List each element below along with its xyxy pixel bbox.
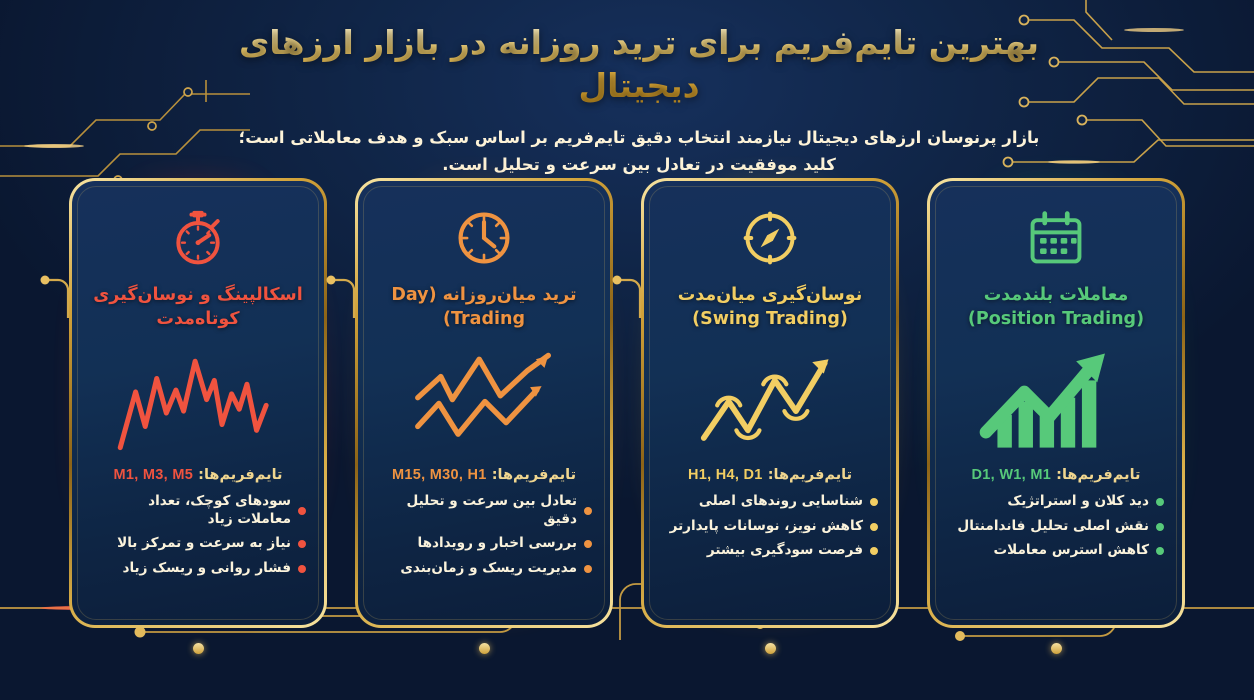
volatile-line-chart-icon [104, 341, 292, 463]
card-body: معاملات بلندمدت (Position Trading)تایم‌ف… [930, 181, 1182, 625]
calendar-icon [1026, 199, 1086, 277]
timeframes-label: تایم‌فریم‌ها: [492, 467, 576, 483]
list-item-label: فرصت سودگیری بیشتر [707, 542, 863, 560]
timeframes-label: تایم‌فریم‌ها: [1056, 467, 1140, 483]
bullet-dot-icon [1156, 498, 1164, 506]
card-title: معاملات بلندمدت (Position Trading) [942, 283, 1170, 335]
bullet-dot-icon [1156, 523, 1164, 531]
list-item-label: نقش اصلی تحلیل فاندامنتال [957, 518, 1149, 536]
list-item: نقش اصلی تحلیل فاندامنتال [948, 518, 1164, 536]
list-item-label: کاهش نویز، نوسانات پایدارتر [670, 518, 863, 536]
timeframes-row: تایم‌فریم‌ها: H1, H4, D1 [688, 467, 852, 483]
bullet-dot-icon [1156, 547, 1164, 555]
list-item: فرصت سودگیری بیشتر [662, 542, 878, 560]
bullet-dot-icon [584, 507, 592, 515]
bullet-dot-icon [298, 565, 306, 573]
feature-list: شناسایی روندهای اصلیکاهش نویز، نوسانات پ… [656, 493, 884, 567]
card-title: نوسان‌گیری میان‌مدت (Swing Trading) [656, 283, 884, 335]
list-item: دید کلان و استراتژیک [948, 493, 1164, 511]
card-title: ترید میان‌روزانه (Day Trading) [370, 283, 598, 335]
feature-list: دید کلان و استراتژیکنقش اصلی تحلیل فاندا… [942, 493, 1170, 567]
bullet-dot-icon [870, 498, 878, 506]
timeframes-value: M15, M30, H1 [392, 467, 487, 483]
list-item: کاهش استرس معاملات [948, 542, 1164, 560]
timeframes-row: تایم‌فریم‌ها: M1, M3, M5 [114, 467, 283, 483]
list-item: تعادل بین سرعت و تحلیل دقیق [376, 493, 592, 528]
timeframes-row: تایم‌فریم‌ها: M15, M30, H1 [392, 467, 576, 483]
list-item-label: مدیریت ریسک و زمان‌بندی [400, 560, 577, 578]
list-item: فشار روانی و ریسک زیاد [90, 560, 306, 578]
swing-wave-arrow-chart-icon [676, 341, 864, 463]
subtitle-line-1: بازار پرنوسان ارزهای دیجیتال نیازمند انت… [194, 124, 1084, 151]
list-item-label: سودهای کوچک، تعداد معاملات زیاد [90, 493, 291, 528]
card-connector-trace [326, 274, 356, 320]
timeframes-value: H1, H4, D1 [688, 467, 763, 483]
card-body: اسکالپینگ و نوسان‌گیری کوتاه‌مدتتایم‌فری… [72, 181, 324, 625]
card-bottom-node [479, 643, 490, 654]
feature-list: تعادل بین سرعت و تحلیل دقیقبررسی اخبار و… [370, 493, 598, 585]
card-bottom-node [1051, 643, 1062, 654]
card-title: اسکالپینگ و نوسان‌گیری کوتاه‌مدت [84, 283, 312, 335]
list-item-label: شناسایی روندهای اصلی [699, 493, 863, 511]
bullet-dot-icon [870, 523, 878, 531]
list-item-label: تعادل بین سرعت و تحلیل دقیق [376, 493, 577, 528]
list-item: سودهای کوچک، تعداد معاملات زیاد [90, 493, 306, 528]
bullet-dot-icon [298, 540, 306, 548]
card-gold-frame: اسکالپینگ و نوسان‌گیری کوتاه‌مدتتایم‌فری… [69, 178, 327, 628]
infographic-canvas: قبیله ققنوس بهترین تایم‌فریم برای ترید ر… [0, 0, 1254, 700]
card-bottom-node [193, 643, 204, 654]
list-item: نیاز به سرعت و تمرکز بالا [90, 535, 306, 553]
list-item-label: فشار روانی و ریسک زیاد [122, 560, 291, 578]
list-item-label: بررسی اخبار و رویدادها [418, 535, 578, 553]
list-item-label: دید کلان و استراتژیک [1007, 493, 1149, 511]
clock-icon [454, 199, 514, 277]
card-gold-frame: ترید میان‌روزانه (Day Trading)تایم‌فریم‌… [355, 178, 613, 628]
list-item-label: نیاز به سرعت و تمرکز بالا [117, 535, 291, 553]
timeframe-card-swing-trading[interactable]: نوسان‌گیری میان‌مدت (Swing Trading)تایم‌… [641, 178, 899, 628]
list-item: شناسایی روندهای اصلی [662, 493, 878, 511]
double-zigzag-arrow-chart-icon [390, 341, 578, 463]
growing-bars-arrow-chart-icon [962, 341, 1150, 463]
card-gold-frame: معاملات بلندمدت (Position Trading)تایم‌ف… [927, 178, 1185, 628]
timeframe-card-day-trading[interactable]: ترید میان‌روزانه (Day Trading)تایم‌فریم‌… [355, 178, 613, 628]
title-block: بهترین تایم‌فریم برای ترید روزانه در باز… [194, 22, 1084, 178]
timeframes-value: M1, M3, M5 [114, 467, 194, 483]
page-title: بهترین تایم‌فریم برای ترید روزانه در باز… [194, 22, 1084, 108]
card-body: نوسان‌گیری میان‌مدت (Swing Trading)تایم‌… [644, 181, 896, 625]
page-subtitle: بازار پرنوسان ارزهای دیجیتال نیازمند انت… [194, 124, 1084, 178]
timeframes-label: تایم‌فریم‌ها: [768, 467, 852, 483]
list-item: کاهش نویز، نوسانات پایدارتر [662, 518, 878, 536]
bullet-dot-icon [870, 547, 878, 555]
list-item-label: کاهش استرس معاملات [994, 542, 1150, 560]
timeframe-card-position-trading[interactable]: معاملات بلندمدت (Position Trading)تایم‌ف… [927, 178, 1185, 628]
timeframes-value: D1, W1, M1 [972, 467, 1052, 483]
card-connector-trace [40, 274, 70, 320]
timeframes-row: تایم‌فریم‌ها: D1, W1, M1 [972, 467, 1141, 483]
card-body: ترید میان‌روزانه (Day Trading)تایم‌فریم‌… [358, 181, 610, 625]
compass-icon [740, 199, 800, 277]
card-bottom-node [765, 643, 776, 654]
list-item: بررسی اخبار و رویدادها [376, 535, 592, 553]
card-connector-trace [612, 274, 642, 320]
card-gold-frame: نوسان‌گیری میان‌مدت (Swing Trading)تایم‌… [641, 178, 899, 628]
timeframe-card-scalping[interactable]: اسکالپینگ و نوسان‌گیری کوتاه‌مدتتایم‌فری… [69, 178, 327, 628]
stopwatch-icon [168, 199, 228, 277]
bullet-dot-icon [298, 507, 306, 515]
list-item: مدیریت ریسک و زمان‌بندی [376, 560, 592, 578]
bullet-dot-icon [584, 565, 592, 573]
header: قبیله ققنوس بهترین تایم‌فریم برای ترید ر… [0, 0, 1254, 178]
timeframes-label: تایم‌فریم‌ها: [198, 467, 282, 483]
feature-list: سودهای کوچک، تعداد معاملات زیادنیاز به س… [84, 493, 312, 585]
timeframe-card-list: اسکالپینگ و نوسان‌گیری کوتاه‌مدتتایم‌فری… [0, 178, 1254, 658]
bullet-dot-icon [584, 540, 592, 548]
